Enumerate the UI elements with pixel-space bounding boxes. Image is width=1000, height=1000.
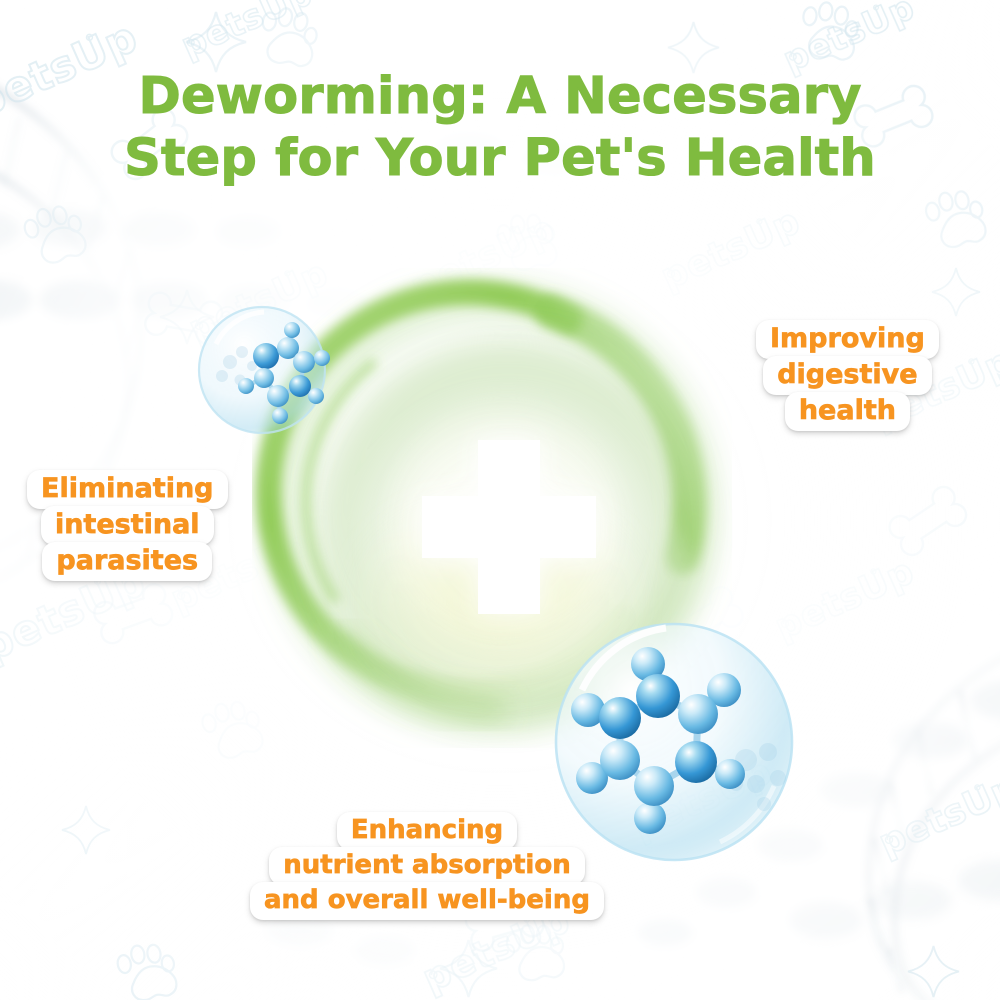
label-line: Eliminating [27, 470, 228, 509]
label-line: health [785, 392, 910, 431]
label-line: and overall well-being [250, 882, 604, 920]
label-line: parasites [42, 542, 212, 581]
benefit-label-improving-digestive-health: Improving digestive health [756, 320, 939, 428]
label-line: Improving [756, 320, 939, 359]
title-line-1: Deworming: A Necessary [0, 66, 1000, 128]
title-line-2: Step for Your Pet's Health [0, 128, 1000, 190]
label-line: intestinal [41, 506, 214, 545]
medical-cross-icon [422, 440, 596, 614]
molecule-bubble-small [192, 300, 342, 440]
label-line: nutrient absorption [269, 847, 584, 885]
infographic-poster: petsUp [0, 0, 1000, 1000]
label-line: Enhancing [337, 812, 517, 850]
benefit-label-enhancing-nutrient-absorption: Enhancing nutrient absorption and overal… [250, 812, 604, 917]
label-line: digestive [763, 356, 931, 395]
benefit-label-eliminating-intestinal-parasites: Eliminating intestinal parasites [27, 470, 228, 578]
page-title: Deworming: A Necessary Step for Your Pet… [0, 66, 1000, 190]
